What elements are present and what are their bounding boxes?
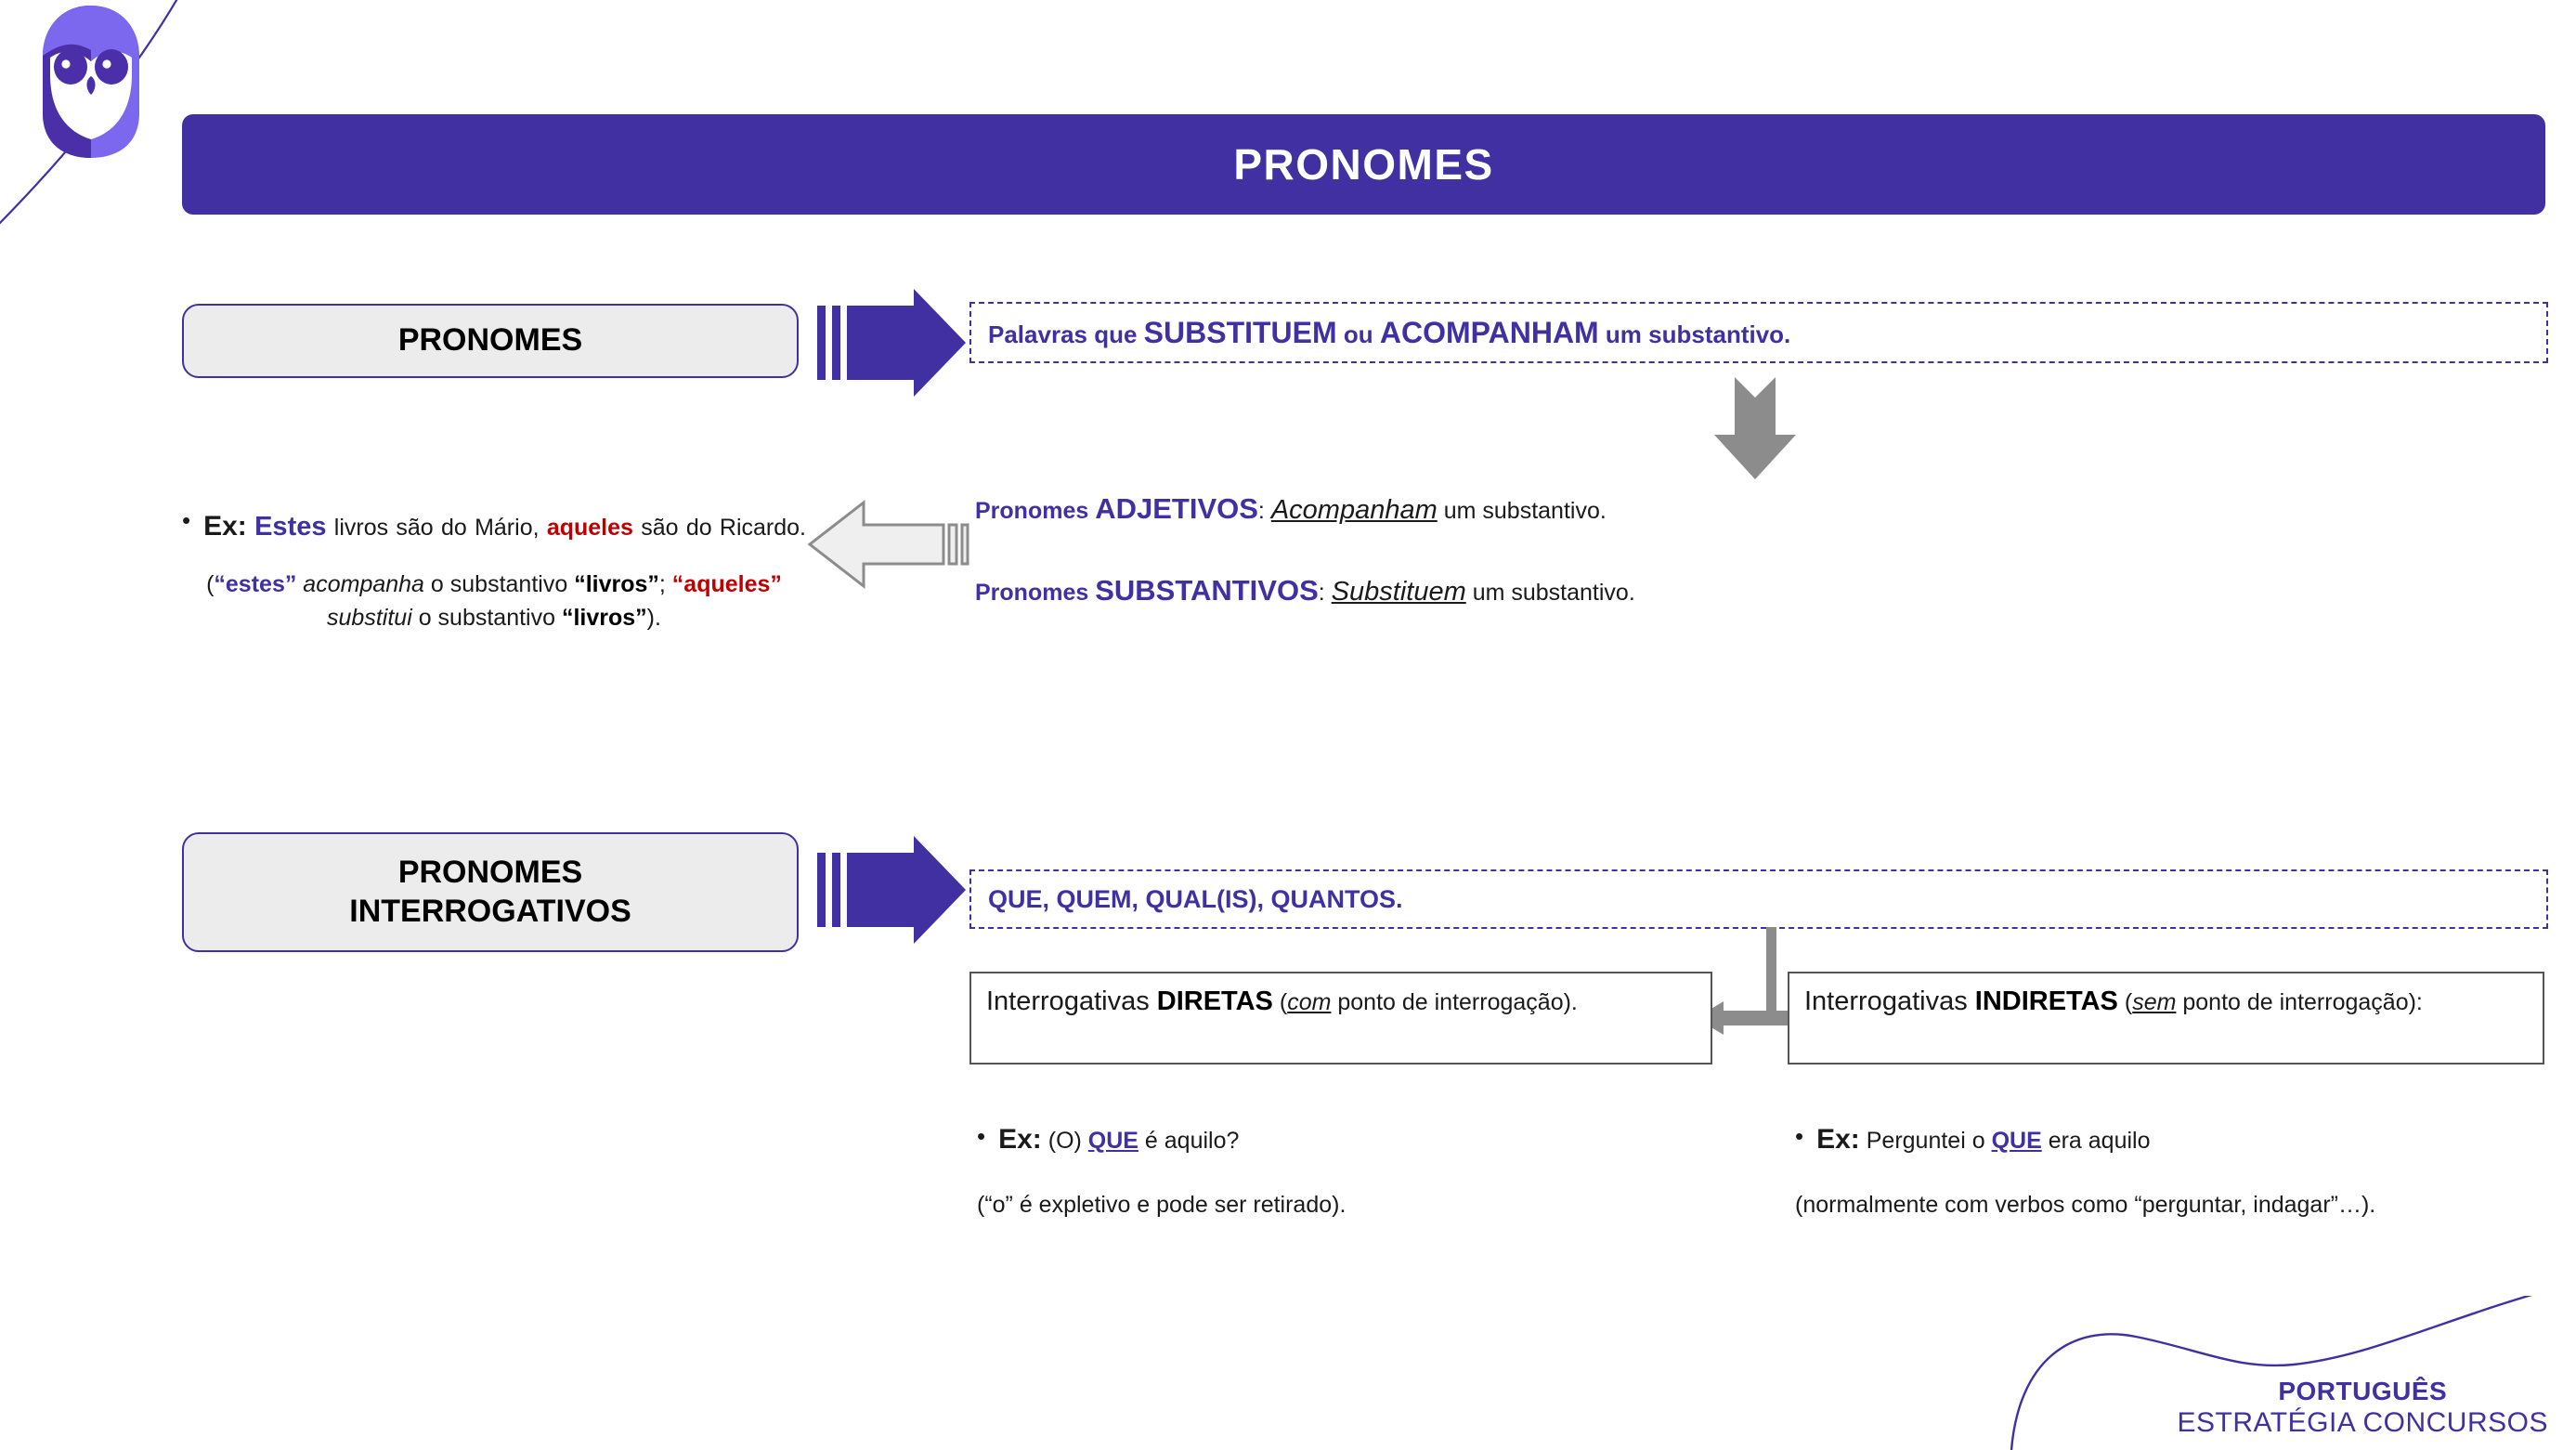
footer-company: ESTRATÉGIA CONCURSOS xyxy=(2177,1406,2548,1439)
example-sentence: Ex: Estes livros são do Mário, aqueles s… xyxy=(203,506,806,547)
footer-branding: PORTUGUÊS ESTRATÉGIA CONCURSOS xyxy=(2177,1376,2548,1439)
definition-text: Palavras que SUBSTITUEM ou ACOMPANHAM um… xyxy=(988,316,1790,350)
definition-box-pronomes: Palavras que SUBSTITUEM ou ACOMPANHAM um… xyxy=(969,302,2548,363)
label-box-interrogativos-text: PRONOMES INTERROGATIVOS xyxy=(349,854,631,931)
label-box-pronomes-interrogativos: PRONOMES INTERROGATIVOS xyxy=(182,832,799,952)
bullet-icon: • xyxy=(1795,1119,1803,1155)
page-title: PRONOMES xyxy=(1233,139,1493,189)
example-text: Ex: Perguntei o QUE era aquilo xyxy=(1816,1119,2150,1160)
footer-subject: PORTUGUÊS xyxy=(2177,1376,2548,1406)
pronoun-type-substantivos: Pronomes SUBSTANTIVOS: Substituem um sub… xyxy=(975,574,2089,607)
pronoun-type-adjetivos: Pronomes ADJETIVOS: Acompanham um substa… xyxy=(975,492,2089,526)
owl-logo-icon xyxy=(35,2,147,162)
box-interrogativas-indiretas: Interrogativas INDIRETAS (sem ponto de i… xyxy=(1788,972,2544,1065)
bullet-icon: • xyxy=(977,1119,985,1155)
down-arrow-icon xyxy=(1709,377,1802,479)
box-interrogativas-diretas: Interrogativas DIRETAS (com ponto de int… xyxy=(969,972,1712,1065)
example-interrogativas-indiretas: • Ex: Perguntei o QUE era aquilo (normal… xyxy=(1795,1119,2543,1221)
bullet-icon: • xyxy=(182,506,190,535)
example-text: Ex: (O) QUE é aquilo? xyxy=(998,1119,1239,1160)
interrogative-pronouns-box: QUE, QUEM, QUAL(IS), QUANTOS. xyxy=(969,869,2548,929)
example-block-pronomes: • Ex: Estes livros são do Mário, aqueles… xyxy=(182,506,806,634)
slide-title-banner: PRONOMES xyxy=(182,114,2545,215)
label-box-pronomes-text: PRONOMES xyxy=(398,321,582,359)
right-block-arrow-icon xyxy=(817,836,966,944)
right-block-arrow-icon xyxy=(817,289,966,397)
label-box-pronomes: PRONOMES xyxy=(182,304,799,378)
left-block-arrow-icon xyxy=(804,495,971,594)
example-note: (normalmente com verbos como “perguntar,… xyxy=(1795,1188,2543,1221)
example-explanation: (“estes” acompanha o substantivo “livros… xyxy=(182,568,806,635)
example-interrogativas-diretas: • Ex: (O) QUE é aquilo? (“o” é expletivo… xyxy=(977,1119,1711,1221)
interrogative-pronoun-list: QUE, QUEM, QUAL(IS), QUANTOS. xyxy=(988,885,1403,914)
example-note: (“o” é expletivo e pode ser retirado). xyxy=(977,1188,1711,1221)
